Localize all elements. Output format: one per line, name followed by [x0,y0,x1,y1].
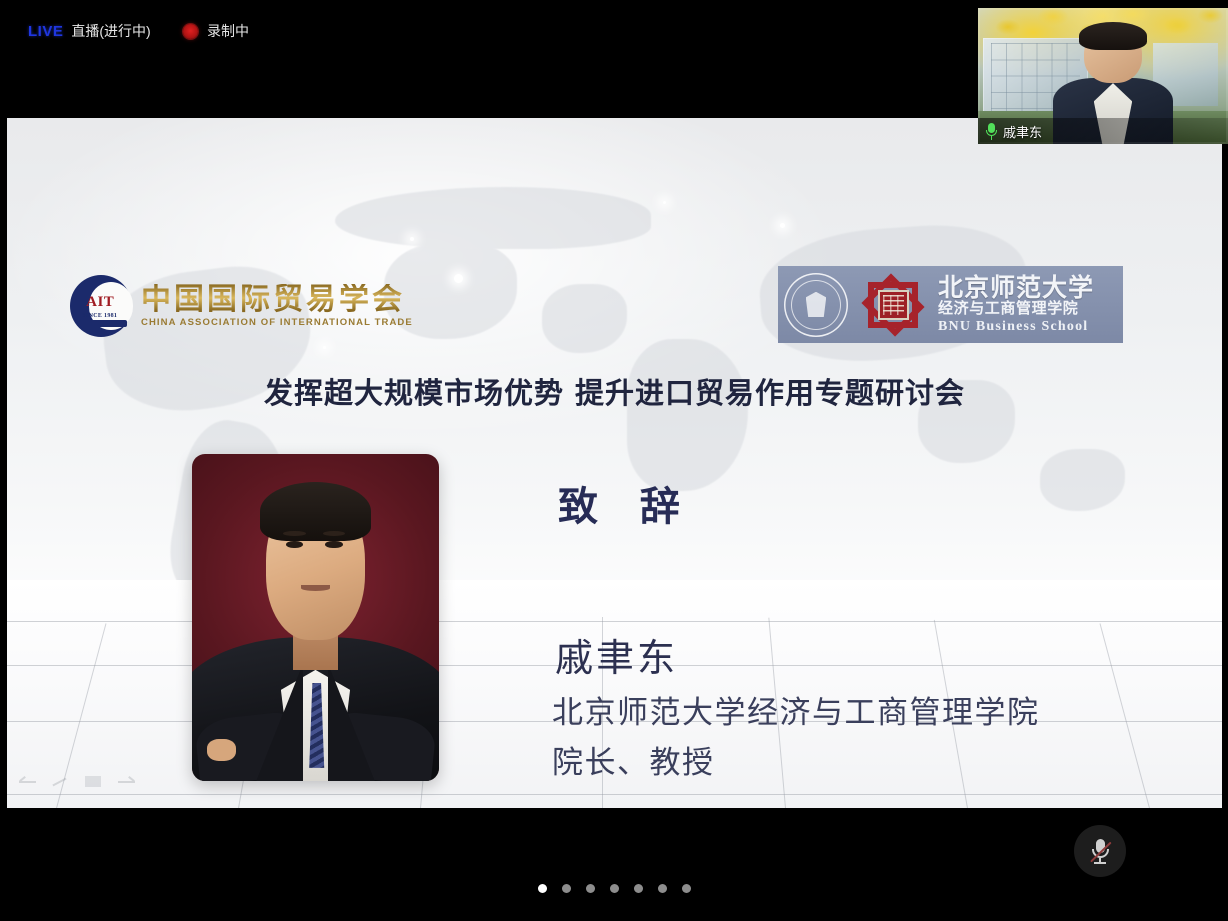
cait-name-en: CHINA ASSOCIATION OF INTERNATIONAL TRADE [141,317,413,328]
recording-dot-icon [183,24,198,39]
cait-emblem-icon: AIT SINCE 1981 [70,275,132,337]
participant-video-thumbnail[interactable]: 戚聿东 [978,8,1228,144]
bnu-school-name-cn: 经济与工商管理学院 [938,301,1094,318]
cait-name-cn: 中国国际贸易学会 [141,284,413,316]
cait-mark-text: AIT [86,294,132,311]
mute-toggle-button[interactable] [1074,825,1126,877]
page-dot[interactable] [586,884,595,893]
participant-name-label: 戚聿东 [1003,122,1042,141]
recording-status-label: 录制中 [207,21,249,41]
participant-name-bar: 戚聿东 [978,118,1228,144]
speaker-portrait-photo [192,454,439,781]
speaker-affiliation-line2: 院长、教授 [552,738,1040,788]
slide-toolbar[interactable] [19,776,135,788]
live-badge: LIVE [28,23,63,40]
live-status-indicator: LIVE 直播(进行中) [28,21,151,41]
cait-logo: AIT SINCE 1981 中国国际贸易学会 CHINA ASSOCIATIO… [70,275,413,337]
bnu-seal-icon [784,273,848,337]
recording-status-indicator: 录制中 [183,21,249,41]
previous-slide-icon[interactable] [19,776,36,788]
shared-slide[interactable]: AIT SINCE 1981 中国国际贸易学会 CHINA ASSOCIATIO… [7,118,1222,808]
slide-title: 发挥超大规模市场优势 提升进口贸易作用专题研讨会 [7,370,1222,412]
thumbnail-icon[interactable] [85,776,102,788]
page-dot[interactable] [538,884,547,893]
bnu-university-name: 北京师范大学 [938,275,1094,301]
page-dot[interactable] [562,884,571,893]
microphone-icon [985,123,998,140]
pen-icon[interactable] [52,776,69,788]
page-dot[interactable] [658,884,667,893]
live-status-label: 直播(进行中) [71,21,150,41]
speaker-name: 戚聿东 [555,627,678,682]
meeting-screen-share-view: LIVE 直播(进行中) 录制中 戚聿东 [0,0,1228,921]
section-heading: 致 辞 [558,474,694,532]
page-dot[interactable] [610,884,619,893]
speaker-affiliation-line1: 北京师范大学经济与工商管理学院 [552,688,1040,738]
bnu-school-name-en: BNU Business School [938,319,1094,334]
microphone-muted-icon [1089,838,1111,865]
speaker-affiliation: 北京师范大学经济与工商管理学院 院长、教授 [552,688,1040,788]
bnu-logo: 北京师范大学 经济与工商管理学院 BNU Business School [778,266,1123,343]
page-indicator-dots[interactable] [0,884,1228,893]
next-slide-icon[interactable] [118,776,135,788]
bnu-emblem-icon [854,272,932,338]
cait-since-text: SINCE 1981 [82,313,128,319]
bottom-bar [0,808,1228,921]
page-dot[interactable] [634,884,643,893]
page-dot[interactable] [682,884,691,893]
